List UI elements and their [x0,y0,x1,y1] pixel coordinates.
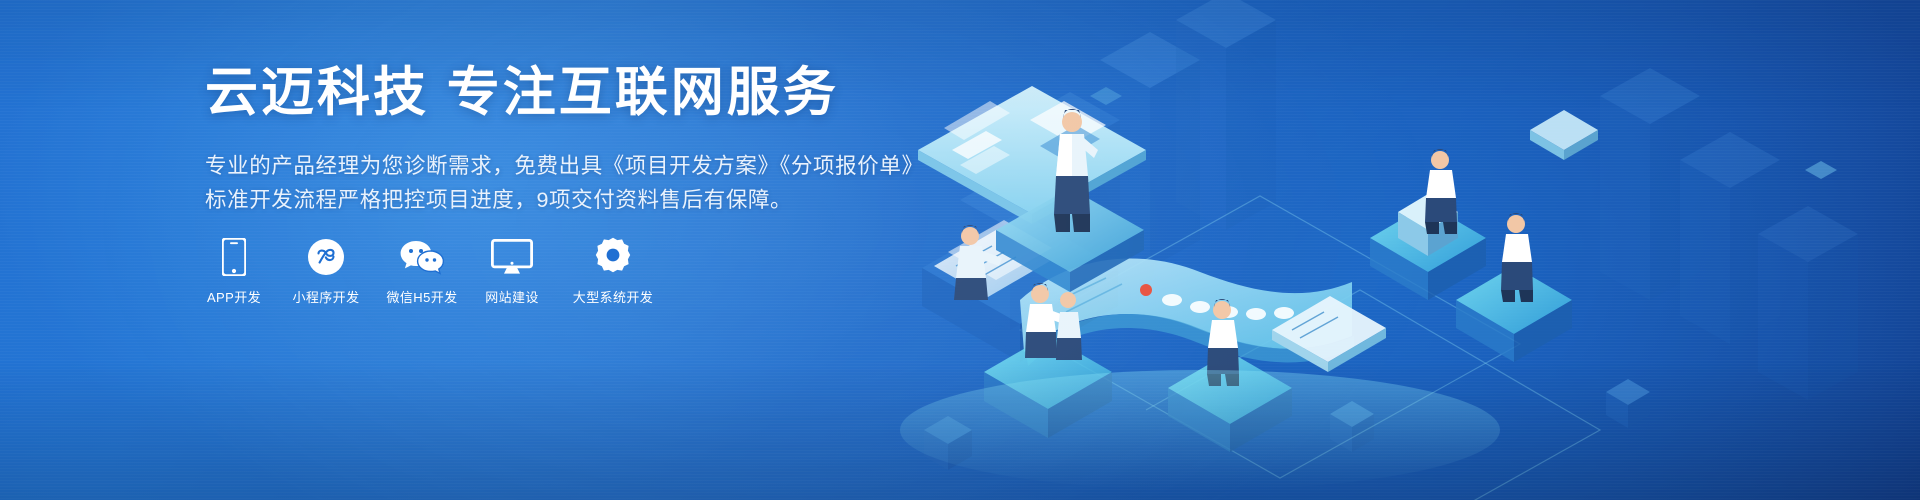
card-indicator-dots [1140,284,1294,320]
service-label: 网站建设 [485,291,539,304]
pedestal-d [1168,352,1292,452]
subtitle-line-2: 标准开发流程严格把控项目进度，9项交付资料售后有保障。 [205,183,1105,218]
person-on-pedestal-b [1501,213,1533,302]
data-card-curve [1020,258,1354,366]
banner-content: 云迈科技 专注互联网服务 专业的产品经理为您诊断需求，免费出具《项目开发方案》《… [205,62,1105,218]
service-label: 微信H5开发 [386,291,457,304]
gear-icon [593,236,633,278]
service-item-large-system[interactable]: 大型系统开发 [569,236,657,304]
subtitle-line-1: 专业的产品经理为您诊断需求，免费出具《项目开发方案》《分项报价单》 [205,149,1105,184]
person-on-pedestal-a [1425,149,1457,234]
hero-banner: 云迈科技 专注互联网服务 专业的产品经理为您诊断需求，免费出具《项目开发方案》《… [0,0,1920,500]
popup-window [1272,296,1386,372]
service-label: 大型系统开发 [573,291,653,304]
pedestal-b [1456,266,1572,362]
pedestal-a [1370,194,1486,300]
service-item-wechat-h5[interactable]: 微信H5开发 [385,236,459,304]
wechat-icon [400,236,444,278]
service-item-mini-program[interactable]: 小程序开发 [289,236,363,304]
person-seated-left [954,225,1002,300]
banner-subtitle: 专业的产品经理为您诊断需求，免费出具《项目开发方案》《分项报价单》 标准开发流程… [205,149,1105,219]
service-item-app[interactable]: APP开发 [205,236,263,304]
service-list: APP开发 小程序开发 [205,236,657,304]
service-label: 小程序开发 [292,291,359,304]
person-on-pedestal-d [1207,299,1239,386]
monitor-icon [491,236,533,278]
service-item-website[interactable]: 网站建设 [481,236,543,304]
document-stack [934,220,1052,297]
mobile-phone-icon [222,236,246,278]
ground-frame [1020,196,1600,500]
mini-program-icon [307,236,345,278]
page-title: 云迈科技 专注互联网服务 [205,62,1105,125]
service-label: APP开发 [207,291,261,304]
pedestal-c [984,335,1112,438]
floating-tag [1530,110,1598,160]
person-on-pedestal-c [1025,283,1082,360]
